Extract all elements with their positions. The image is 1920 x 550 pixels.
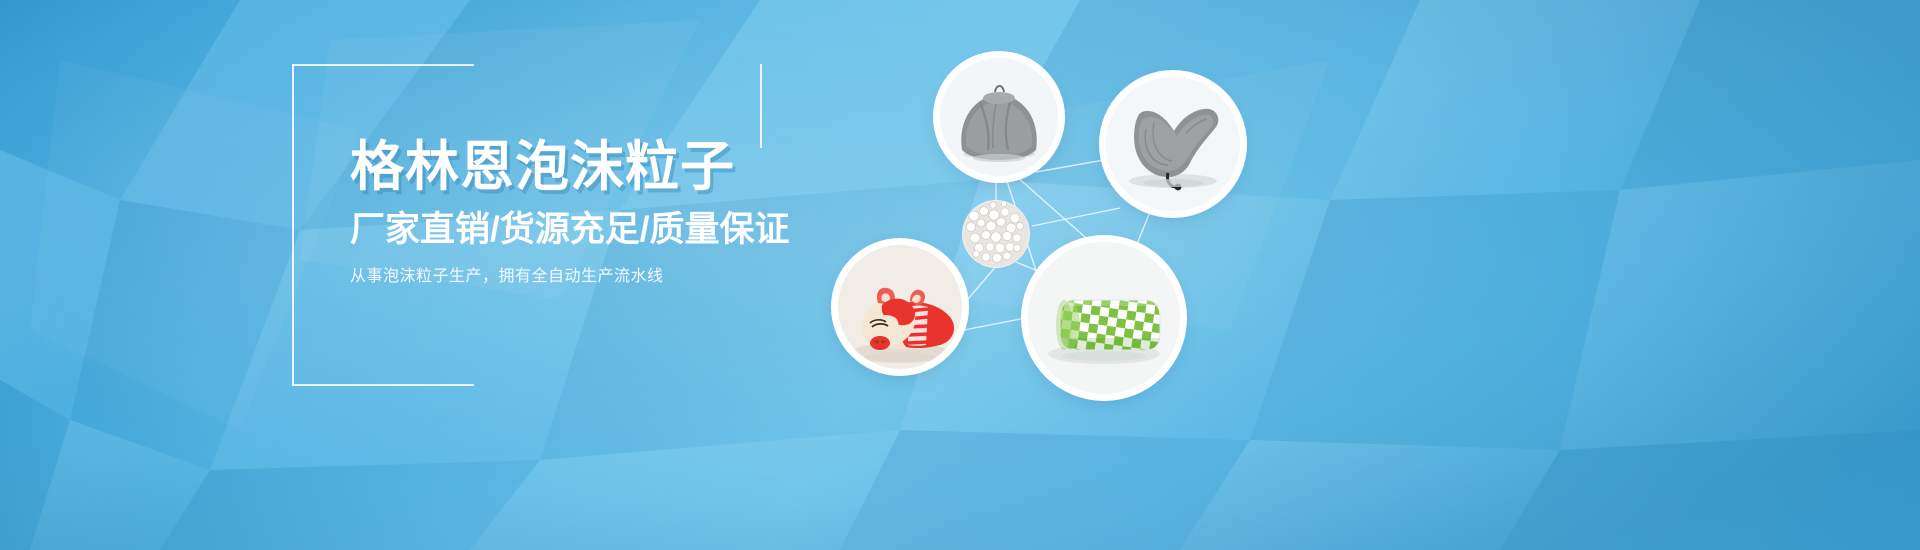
pig-plush-pillow-photo — [838, 245, 962, 369]
product-cluster — [820, 30, 1290, 400]
frame-left-edge — [292, 64, 294, 386]
product-bubble-foam-particles[interactable] — [962, 200, 1030, 268]
product-bubble-neck-pillow[interactable] — [1106, 77, 1240, 211]
frame-top-edge — [292, 64, 474, 66]
product-bubble-pig-plush[interactable] — [838, 245, 962, 369]
foam-particles-photo — [962, 200, 1030, 268]
tagline: 从事泡沫粒子生产，拥有全自动生产流水线 — [350, 269, 664, 285]
headline-group: 格林恩泡沫粒子 厂家直销/货源充足/质量保证 从事泡沫粒子生产，拥有全自动生产流… — [292, 64, 762, 386]
product-bubble-checker-roll[interactable] — [1028, 242, 1180, 394]
bean-bag-chair-photo — [940, 58, 1058, 176]
promo-banner: 格林恩泡沫粒子 厂家直销/货源充足/质量保证 从事泡沫粒子生产，拥有全自动生产流… — [0, 0, 1920, 550]
subtitle: 厂家直销/货源充足/质量保证 — [350, 212, 789, 247]
product-bubble-bean-bag-chair[interactable] — [940, 58, 1058, 176]
checker-roll-pillow-photo — [1028, 242, 1180, 394]
page-title: 格林恩泡沫粒子 — [350, 140, 735, 194]
frame-bottom-edge — [292, 384, 474, 386]
u-neck-pillow-photo — [1106, 77, 1240, 211]
frame-right-edge — [760, 64, 762, 148]
